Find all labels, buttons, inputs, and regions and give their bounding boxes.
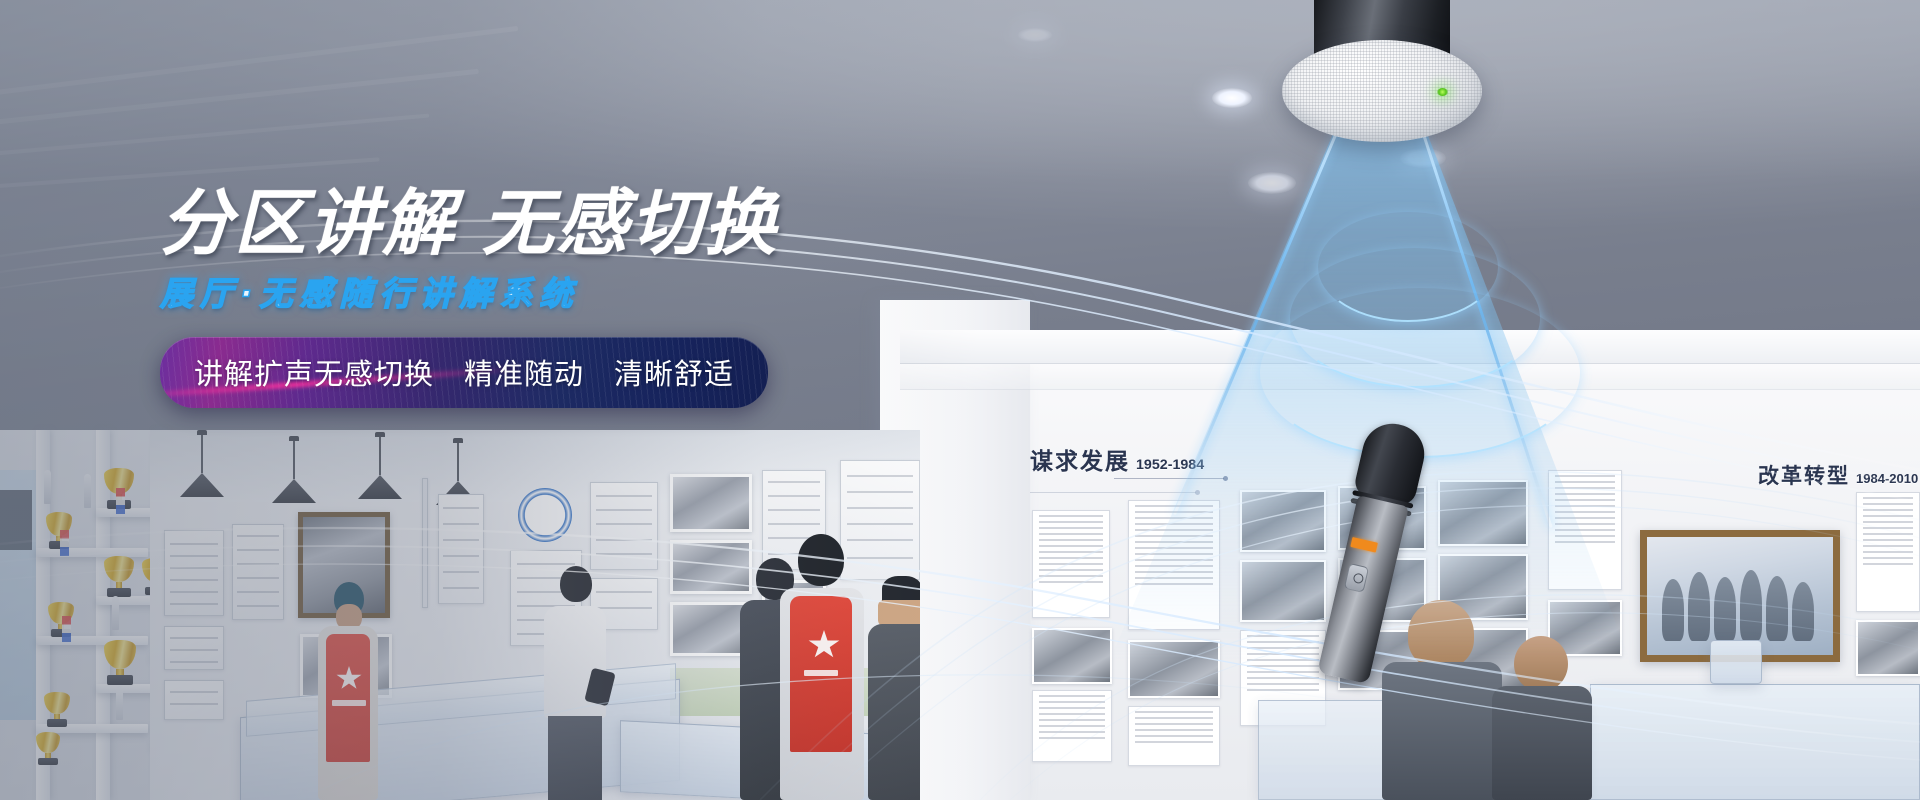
visitor-person — [318, 582, 378, 800]
wall-photo — [1032, 628, 1112, 684]
exhibit-section-title-2: 改革转型1984-2010 — [1758, 460, 1918, 490]
wall-exhibit-panel — [590, 482, 658, 570]
award-statuette — [84, 474, 91, 508]
banner-copy: 分区讲解无感切换 展厅·无感随行讲解系统 讲解扩声无感切换精准随动清晰舒适 — [160, 186, 920, 413]
wall-exhibit-panel — [164, 626, 224, 670]
visitor-person — [868, 576, 920, 800]
exhibit-photo — [670, 474, 752, 532]
panel-divider — [422, 478, 428, 608]
headline-part-2: 无感切换 — [482, 181, 778, 265]
ceiling-downlight-icon — [1248, 172, 1296, 194]
pendant-lamp — [358, 432, 402, 499]
headline-part-1: 分区讲解 — [160, 181, 456, 265]
visitor-person — [1492, 636, 1592, 800]
trophy — [104, 556, 134, 598]
feature-badge-text: 讲解扩声无感切换精准随动清晰舒适 — [194, 351, 734, 393]
pendant-lamp — [272, 436, 316, 503]
exhibit-title-rule — [1030, 492, 1196, 493]
wall-exhibit-panel — [438, 494, 484, 604]
wall-exhibit-panel — [164, 530, 224, 616]
exhibit-title-text: 改革转型 — [1758, 465, 1850, 488]
wall-photo — [1856, 620, 1920, 676]
wall-text-panel — [1856, 492, 1920, 612]
speaker-grille — [1282, 40, 1482, 142]
display-case — [1710, 640, 1762, 684]
medal-ribbon — [116, 488, 125, 514]
wall-text-panel — [1128, 706, 1220, 766]
speaker-status-led-icon — [1437, 88, 1448, 96]
ceiling-downlight-icon — [1212, 88, 1252, 108]
wall-text-panel — [1032, 690, 1112, 762]
pendant-lamp — [180, 430, 224, 497]
feature-badge: 讲解扩声无感切换精准随动清晰舒适 — [160, 337, 768, 408]
exhibit-section-title-1: 谋求发展1952-1984 — [1030, 442, 1204, 476]
banner-headline: 分区讲解无感切换 — [160, 186, 920, 261]
wall-text-panel — [1032, 510, 1110, 618]
visitor-person — [780, 534, 864, 800]
ceiling-downlight-icon — [1018, 28, 1052, 42]
exhibit-year-range: 1984-2010 — [1856, 471, 1918, 486]
trophy — [104, 640, 136, 686]
medal-ribbon — [62, 616, 71, 642]
trophy — [44, 692, 70, 728]
visitor-person — [544, 566, 606, 800]
exhibition-hall — [150, 430, 920, 800]
award-statuette — [44, 470, 51, 504]
feature-2: 精准随动 — [464, 357, 584, 391]
ceiling-speaker — [1282, 0, 1482, 162]
trophy — [36, 732, 60, 766]
banner-subtitle: 展厅·无感随行讲解系统 — [160, 267, 920, 315]
exhibit-title-text: 谋求发展 — [1030, 448, 1130, 474]
school-emblem-icon — [518, 488, 572, 542]
wall-exhibit-panel — [164, 680, 224, 720]
wall-exhibit-panel — [232, 524, 284, 620]
award-statuette — [112, 596, 119, 630]
medal-ribbon — [60, 530, 69, 556]
feature-1: 讲解扩声无感切换 — [194, 357, 434, 391]
display-case — [1590, 684, 1920, 800]
feature-3: 清晰舒适 — [614, 357, 734, 391]
wall-monitor — [0, 490, 32, 550]
award-statuette — [116, 686, 123, 720]
banner-stage: 谋求发展1952-1984 改革转型1984-2010 — [0, 0, 1920, 800]
